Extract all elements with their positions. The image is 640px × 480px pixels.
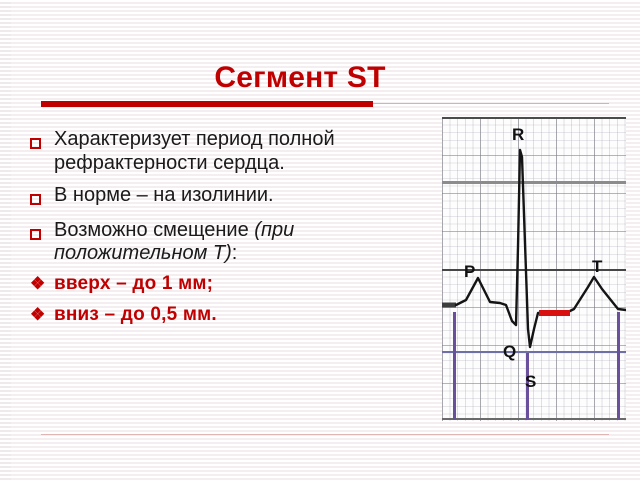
ecg-label-p: P xyxy=(464,263,475,280)
bullet-text: Характеризует период полной рефрактернос… xyxy=(54,128,435,175)
ecg-label-q: Q xyxy=(503,343,516,360)
ecg-figure: R P T Q S xyxy=(442,117,626,421)
square-bullet-icon xyxy=(30,128,54,156)
diamond-bullet-icon: ❖ xyxy=(30,304,54,325)
ecg-label-t: T xyxy=(592,258,602,275)
slide-canvas: Сегмент ST Характеризует период полной р… xyxy=(0,0,640,480)
list-item: ❖ вверх – до 1 мм; xyxy=(30,273,435,295)
bullet-text-plain: Возможно смещение xyxy=(54,219,249,241)
list-item: Характеризует период полной рефрактернос… xyxy=(30,128,435,175)
footer-rule xyxy=(41,434,609,435)
square-bullet-icon xyxy=(30,219,54,247)
ecg-label-s: S xyxy=(525,373,536,390)
bullet-text: вверх – до 1 мм; xyxy=(54,273,435,295)
bullet-list: Характеризует период полной рефрактернос… xyxy=(30,128,435,329)
list-item: Возможно смещение (при положительном Т): xyxy=(30,219,435,266)
bullet-text: В норме – на изолинии. xyxy=(54,184,435,208)
diamond-bullet-icon: ❖ xyxy=(30,273,54,294)
bullet-text: вниз – до 0,5 мм. xyxy=(54,304,435,326)
list-item: В норме – на изолинии. xyxy=(30,184,435,212)
title-divider-thick xyxy=(41,101,373,107)
title-divider-thin xyxy=(373,103,609,104)
ecg-label-r: R xyxy=(512,126,524,143)
square-bullet-icon xyxy=(30,184,54,212)
ecg-pqrst-trace xyxy=(456,150,626,347)
list-item: ❖ вниз – до 0,5 мм. xyxy=(30,304,435,326)
bullet-text-mixed: Возможно смещение (при положительном Т): xyxy=(54,219,435,266)
bullet-text-tail: : xyxy=(232,242,238,264)
page-title: Сегмент ST xyxy=(0,61,600,95)
